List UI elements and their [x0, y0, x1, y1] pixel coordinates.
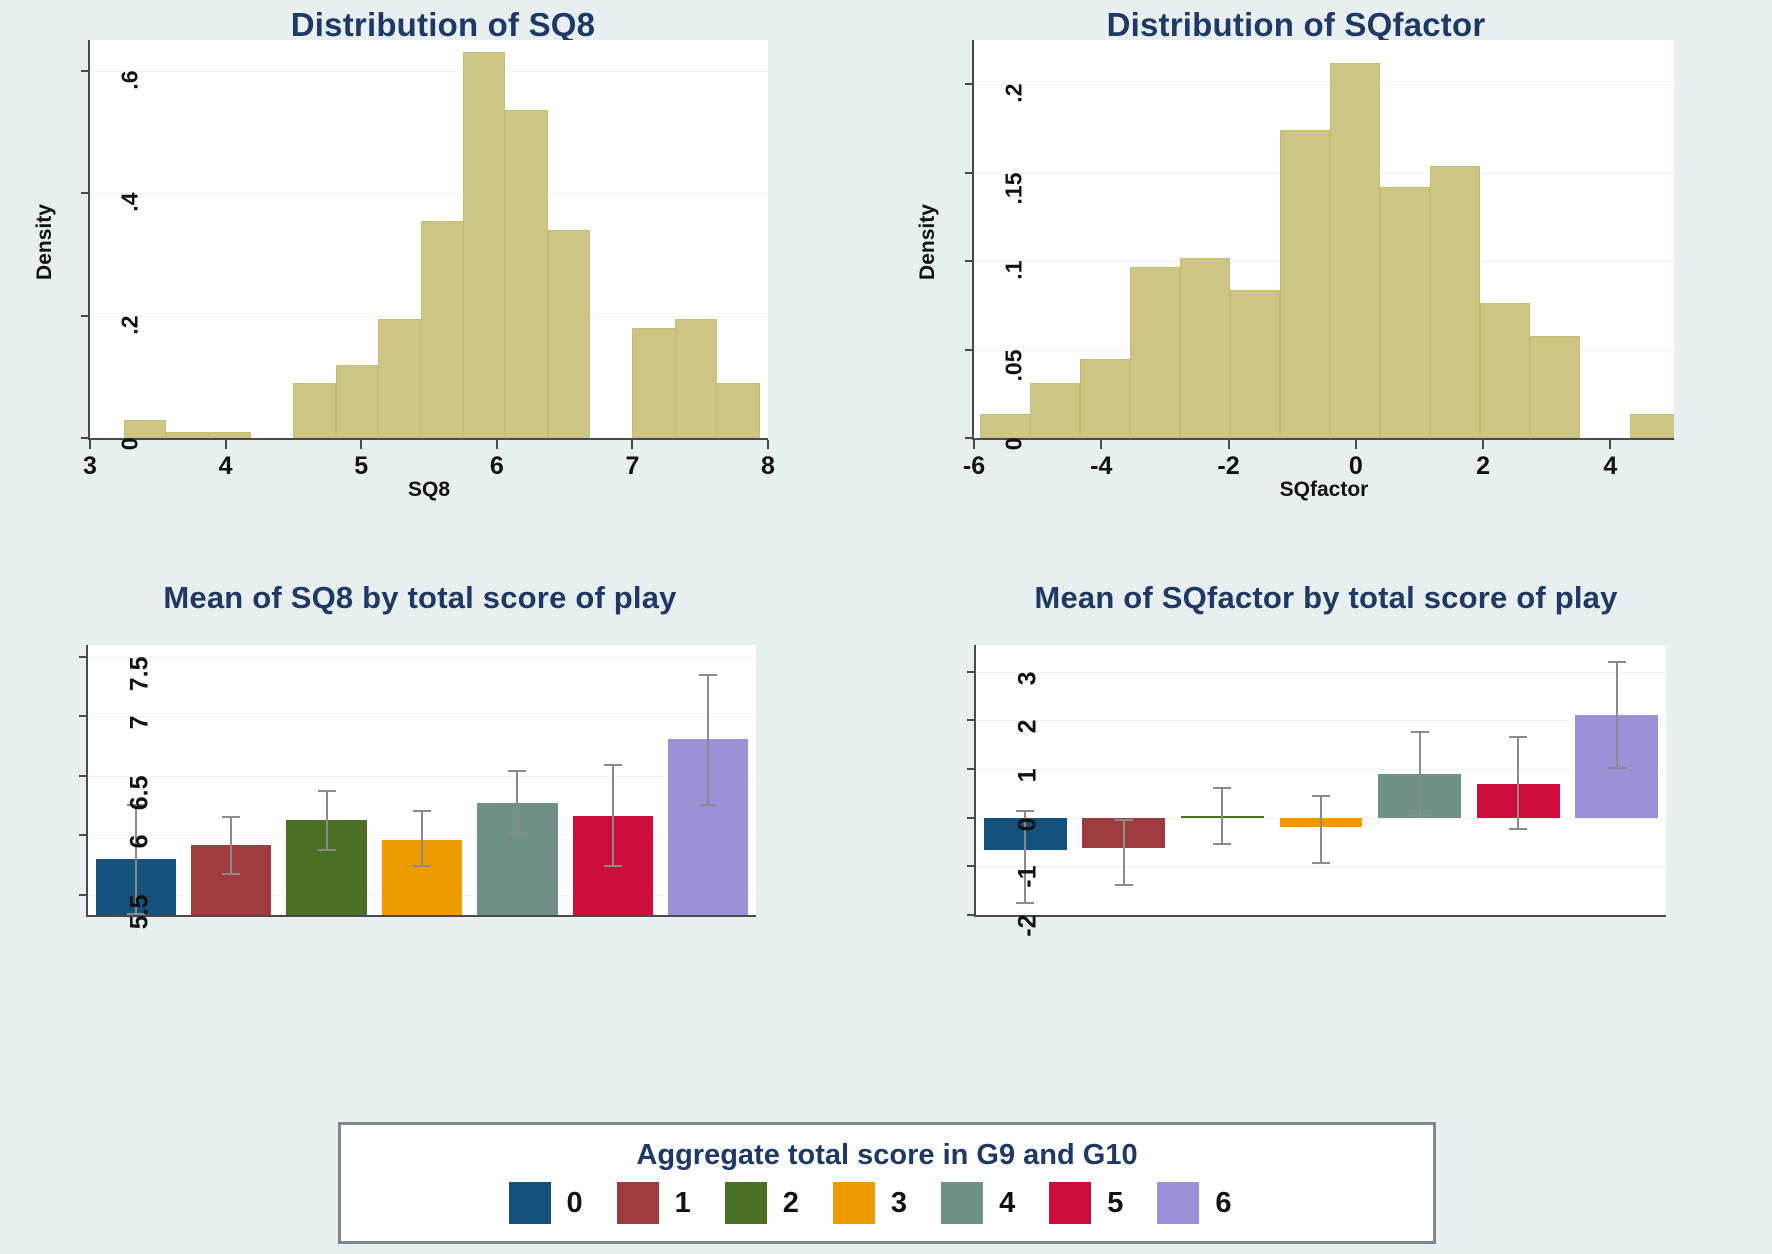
histogram-bar — [1480, 303, 1530, 438]
gridline — [976, 720, 1666, 721]
histogram-bar — [1280, 130, 1330, 438]
panel-distribution-sq8: Distribution of SQ8 Density SQ8 0.2.4.63… — [0, 0, 886, 570]
legend-label-2: 2 — [783, 1187, 799, 1220]
panel-distribution-sqfactor: Distribution of SQfactor Density SQfacto… — [886, 0, 1772, 570]
x-tick-label: 5 — [336, 452, 386, 481]
error-bar-cap-lower — [1213, 843, 1231, 845]
y-tick — [79, 656, 88, 658]
x-tick-label: -4 — [1076, 452, 1126, 481]
error-bar-cap-lower — [1411, 815, 1429, 817]
x-tick — [1609, 440, 1611, 449]
histogram-bar — [675, 319, 717, 438]
x-axis-title-sqfactor: SQfactor — [974, 478, 1674, 502]
y-tick — [967, 865, 976, 867]
y-tick — [967, 671, 976, 673]
y-tick — [967, 817, 976, 819]
x-tick-label: -2 — [1204, 452, 1254, 481]
x-tick-label: 3 — [65, 452, 115, 481]
x-tick-label: -6 — [949, 452, 999, 481]
histogram-bar — [421, 221, 463, 438]
legend-label-1: 1 — [675, 1187, 691, 1220]
y-tick — [81, 315, 90, 317]
plot-area-sq8 — [90, 40, 768, 438]
histogram-bar — [1630, 414, 1674, 438]
legend-item-1[interactable]: 1 — [617, 1182, 725, 1224]
y-tick-label: 0 — [117, 438, 144, 498]
histogram-bar — [1230, 290, 1280, 438]
x-tick — [89, 440, 91, 449]
x-tick-label: 4 — [1585, 452, 1635, 481]
histogram-bar — [1330, 63, 1380, 438]
x-axis-line-mean-sq8 — [86, 915, 756, 917]
gridline — [88, 776, 756, 777]
y-tick — [965, 172, 974, 174]
y-tick-label: .4 — [117, 193, 144, 253]
error-bar — [230, 816, 232, 874]
error-bar-cap-lower — [222, 873, 240, 875]
histogram-bar — [1430, 166, 1480, 438]
error-bar-cap-lower — [1509, 828, 1527, 830]
legend-label-4: 4 — [999, 1187, 1015, 1220]
y-tick — [965, 349, 974, 351]
legend-label-0: 0 — [567, 1187, 583, 1220]
plot-area-mean-sqfactor — [976, 645, 1666, 915]
y-tick — [965, 260, 974, 262]
y-tick-label: 6.5 — [126, 775, 155, 845]
error-bar — [1320, 795, 1322, 864]
histogram-bar — [980, 414, 1030, 438]
y-tick-label: 5.5 — [126, 894, 155, 964]
y-tick — [967, 914, 976, 916]
error-bar-cap-lower — [1312, 862, 1330, 864]
y-axis-title-sqfactor: Density — [916, 182, 940, 302]
error-bar — [1123, 819, 1125, 886]
legend-swatch-5 — [1049, 1182, 1091, 1224]
error-bar-cap-upper — [508, 770, 526, 772]
error-bar-cap-upper — [1509, 736, 1527, 738]
y-tick — [79, 894, 88, 896]
gridline — [976, 866, 1666, 867]
legend-label-5: 5 — [1107, 1187, 1123, 1220]
gridline — [90, 71, 768, 72]
histogram-bar — [505, 110, 547, 438]
chart-title-mean-sqfactor: Mean of SQfactor by total score of play — [896, 580, 1756, 616]
chart-title-mean-sq8: Mean of SQ8 by total score of play — [30, 580, 810, 616]
y-axis-line-sqfactor — [972, 40, 974, 440]
x-tick — [1100, 440, 1102, 449]
y-tick — [79, 775, 88, 777]
gridline — [88, 657, 756, 658]
x-tick — [1228, 440, 1230, 449]
x-tick-label: 0 — [1331, 452, 1381, 481]
error-bar — [1221, 787, 1223, 845]
legend: Aggregate total score in G9 and G10 0123… — [338, 1122, 1436, 1244]
x-tick — [973, 440, 975, 449]
error-bar-cap-upper — [1411, 731, 1429, 733]
error-bar-cap-upper — [1608, 661, 1626, 663]
x-tick — [1482, 440, 1484, 449]
histogram-bar — [1530, 336, 1580, 438]
y-tick-label: .2 — [117, 315, 144, 375]
x-tick — [767, 440, 769, 449]
chart-title-sqfactor: Distribution of SQfactor — [886, 6, 1706, 44]
histogram-bar — [293, 383, 335, 438]
legend-item-5[interactable]: 5 — [1049, 1182, 1157, 1224]
histogram-bar — [1080, 359, 1130, 438]
x-tick-label: 4 — [201, 452, 251, 481]
histogram-bar — [124, 420, 166, 438]
x-tick — [225, 440, 227, 449]
y-tick-label: 7.5 — [126, 656, 155, 726]
y-axis-line-mean-sq8 — [86, 645, 88, 917]
error-bar-cap-lower — [413, 865, 431, 867]
y-tick — [81, 70, 90, 72]
legend-items: 0123456 — [341, 1182, 1433, 1224]
x-axis-title-sq8: SQ8 — [90, 478, 768, 502]
legend-swatch-6 — [1157, 1182, 1199, 1224]
plot-area-mean-sq8 — [88, 645, 756, 915]
gridline — [88, 716, 756, 717]
x-tick-label: 7 — [607, 452, 657, 481]
y-tick — [79, 834, 88, 836]
y-tick-label: 3 — [1014, 671, 1043, 741]
error-bar-cap-upper — [1312, 795, 1330, 797]
error-bar-cap-upper — [699, 674, 717, 676]
y-tick — [81, 437, 90, 439]
error-bar — [1419, 731, 1421, 818]
y-tick-label: .1 — [1001, 261, 1028, 321]
x-tick-label: 6 — [472, 452, 522, 481]
x-tick — [631, 440, 633, 449]
histogram-bar — [1180, 258, 1230, 438]
x-tick-label: 8 — [743, 452, 793, 481]
histogram-bar — [1380, 187, 1430, 438]
error-bar-cap-lower — [508, 833, 526, 835]
error-bar-cap-upper — [604, 764, 622, 766]
legend-item-0[interactable]: 0 — [509, 1182, 617, 1224]
error-bar-cap-lower — [1608, 767, 1626, 769]
y-tick — [81, 192, 90, 194]
legend-item-6[interactable]: 6 — [1157, 1182, 1265, 1224]
gridline — [974, 84, 1674, 85]
panel-mean-sqfactor: Mean of SQfactor by total score of play … — [886, 570, 1772, 970]
x-axis-line-sqfactor — [972, 438, 1674, 440]
error-bar — [707, 674, 709, 806]
y-axis-line-sq8 — [88, 40, 90, 440]
histogram-bar — [1030, 383, 1080, 438]
error-bar-cap-lower — [604, 865, 622, 867]
x-tick — [1355, 440, 1357, 449]
histogram-bar — [463, 52, 505, 438]
histogram-bar — [717, 383, 759, 438]
gridline — [90, 193, 768, 194]
legend-swatch-2 — [725, 1182, 767, 1224]
legend-label-3: 3 — [891, 1187, 907, 1220]
error-bar-cap-upper — [222, 816, 240, 818]
y-tick — [965, 437, 974, 439]
error-bar-cap-lower — [318, 849, 336, 851]
x-tick — [360, 440, 362, 449]
error-bar — [421, 810, 423, 867]
legend-item-3[interactable]: 3 — [833, 1182, 941, 1224]
legend-swatch-3 — [833, 1182, 875, 1224]
error-bar-cap-upper — [413, 810, 431, 812]
y-axis-title-sq8: Density — [33, 182, 57, 302]
error-bar-cap-lower — [699, 804, 717, 806]
y-tick-label: .2 — [1001, 84, 1028, 144]
error-bar-cap-upper — [1213, 787, 1231, 789]
x-axis-line-mean-sqfactor — [974, 915, 1666, 917]
histogram-bar — [632, 328, 674, 438]
histogram-bar — [378, 319, 420, 438]
y-tick — [79, 715, 88, 717]
legend-item-4[interactable]: 4 — [941, 1182, 1049, 1224]
legend-swatch-4 — [941, 1182, 983, 1224]
x-axis-line-sq8 — [88, 438, 768, 440]
error-bar-cap-lower — [1115, 884, 1133, 886]
legend-label-6: 6 — [1215, 1187, 1231, 1220]
histogram-bar — [336, 365, 378, 438]
gridline — [976, 672, 1666, 673]
legend-swatch-1 — [617, 1182, 659, 1224]
error-bar — [326, 790, 328, 851]
y-axis-line-mean-sqfactor — [974, 645, 976, 917]
panel-mean-sq8: Mean of SQ8 by total score of play 5.566… — [0, 570, 886, 970]
y-tick-label: .05 — [1001, 349, 1028, 409]
plot-area-sqfactor — [974, 40, 1674, 438]
legend-swatch-0 — [509, 1182, 551, 1224]
x-tick-label: 2 — [1458, 452, 1508, 481]
y-tick-label: .15 — [1001, 172, 1028, 232]
y-tick-label: .6 — [117, 70, 144, 130]
gridline — [976, 769, 1666, 770]
chart-title-sq8: Distribution of SQ8 — [0, 6, 886, 44]
error-bar-cap-upper — [1115, 819, 1133, 821]
y-tick-label: 0 — [1001, 438, 1028, 498]
legend-item-2[interactable]: 2 — [725, 1182, 833, 1224]
error-bar — [1517, 736, 1519, 829]
y-tick — [967, 719, 976, 721]
histogram-bar — [1130, 267, 1180, 438]
error-bar — [516, 770, 518, 835]
error-bar-cap-upper — [318, 790, 336, 792]
error-bar — [1616, 661, 1618, 769]
error-bar — [612, 764, 614, 867]
legend-title: Aggregate total score in G9 and G10 — [341, 1139, 1433, 1172]
histogram-bar — [548, 230, 590, 438]
y-tick — [965, 83, 974, 85]
y-tick — [967, 768, 976, 770]
x-tick — [496, 440, 498, 449]
